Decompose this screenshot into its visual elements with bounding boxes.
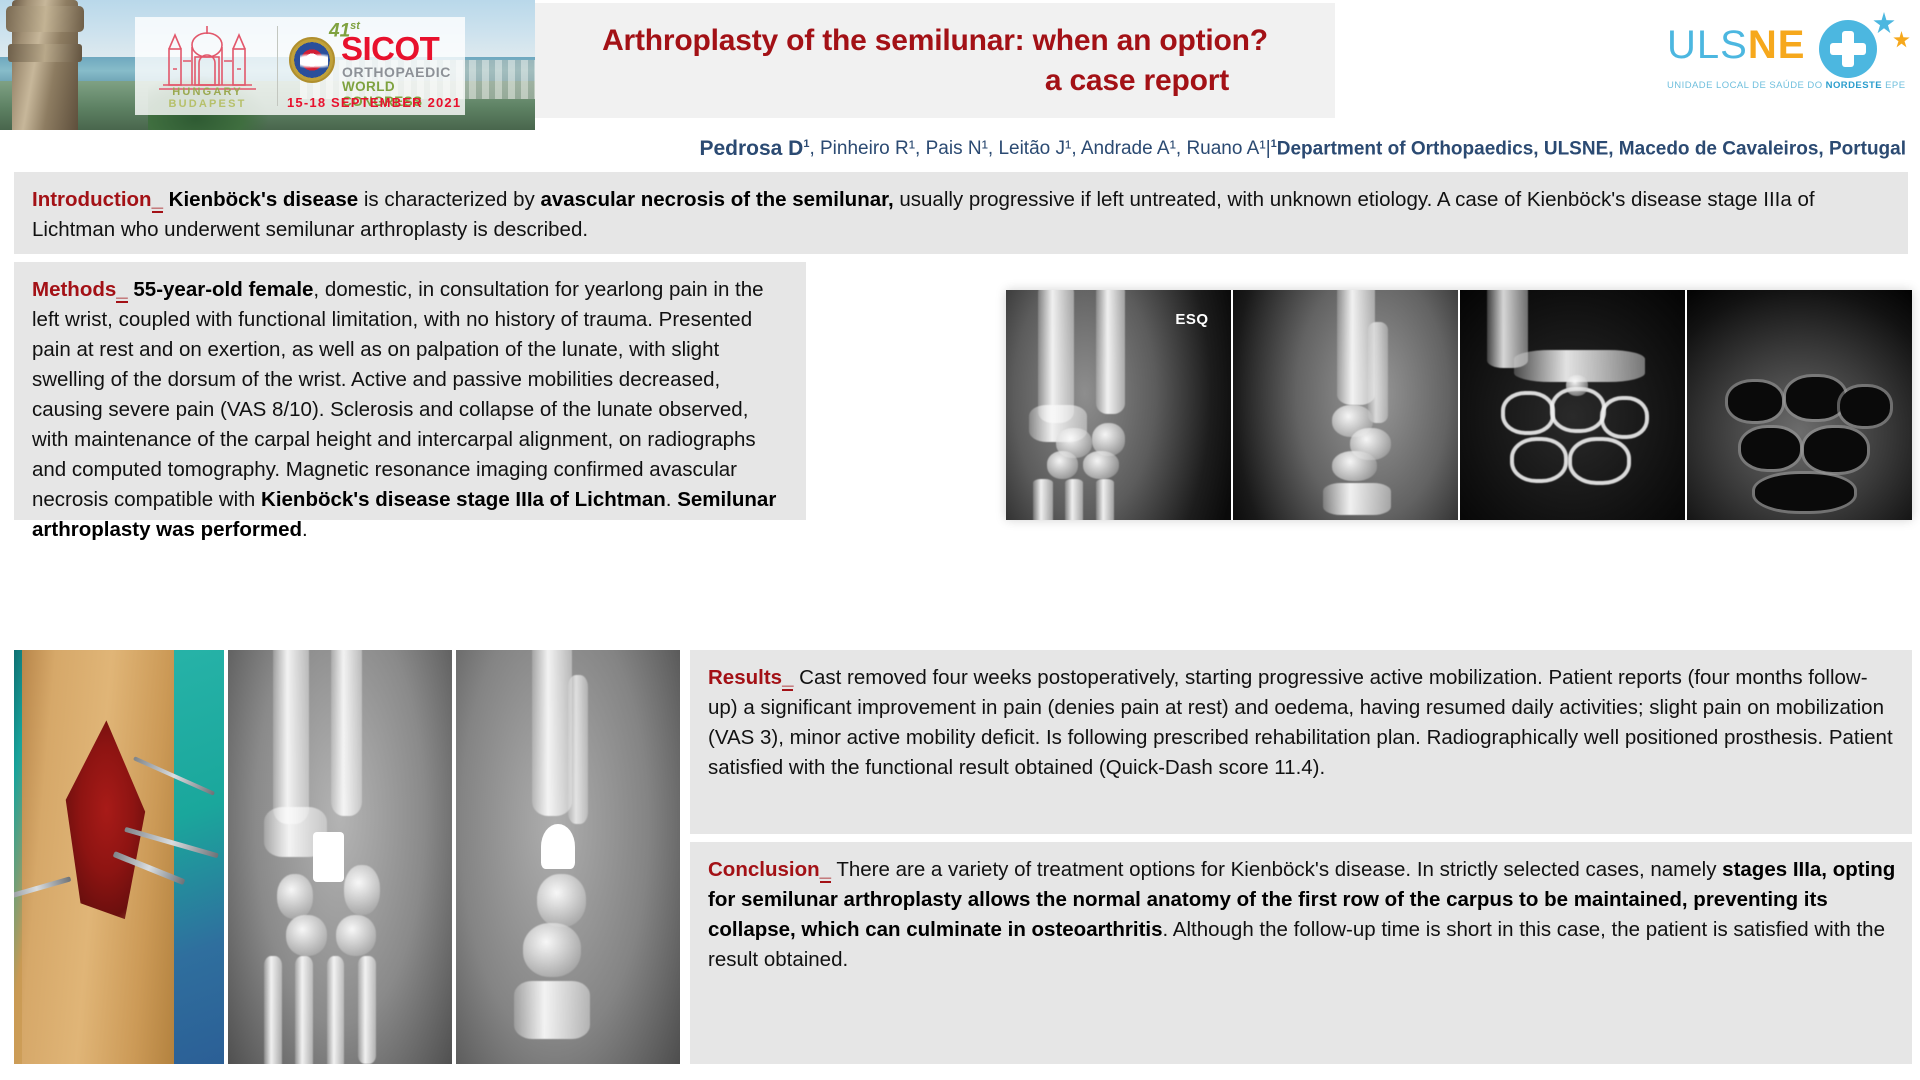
logo-divider bbox=[277, 26, 278, 106]
sicot-emblem-icon bbox=[289, 37, 335, 83]
introduction-text: Kienböck's disease is characterized by a… bbox=[32, 188, 1815, 241]
banner-stone-pillar bbox=[12, 0, 78, 130]
xray-lateral-preop bbox=[1233, 290, 1458, 520]
preoperative-imaging-strip: ESQ bbox=[1006, 290, 1912, 520]
sicot-dates: 15-18 SEPTEMBER 2021 bbox=[287, 95, 461, 110]
sicot-name: SICOT bbox=[341, 32, 439, 65]
budapest-basilica-icon: HUNGARY BUDAPEST bbox=[145, 23, 270, 109]
lead-author: Pedrosa D1 bbox=[699, 137, 809, 161]
lunate-prosthesis-lateral bbox=[541, 824, 575, 870]
poster-title-box: Arthroplasty of the semilunar: when an o… bbox=[535, 3, 1335, 118]
medical-cross-icon bbox=[1819, 20, 1877, 78]
ct-coronal-wrist bbox=[1460, 290, 1685, 520]
section-label-methods: Methods_ bbox=[32, 278, 128, 303]
xray-ap-postop bbox=[228, 650, 452, 1064]
poster-header: HUNGARY BUDAPEST 41st SICOT ORTHOPAEDIC … bbox=[0, 0, 1920, 130]
ulsne-subtitle: UNIDADE LOCAL DE SAÚDE DO NORDESTE EPE bbox=[1667, 80, 1905, 91]
section-results: Results_ Cast removed four weeks postope… bbox=[690, 650, 1912, 834]
xray-side-marker: ESQ bbox=[1175, 311, 1208, 328]
intraoperative-photo bbox=[14, 650, 224, 1064]
page-subtitle: a case report bbox=[1045, 61, 1335, 101]
affiliation: 1Department of Orthopaedics, ULSNE, Mace… bbox=[1271, 138, 1906, 160]
lunate-prosthesis bbox=[313, 832, 344, 882]
section-label-introduction: Introduction_ bbox=[32, 188, 163, 213]
xray-ap-preop: ESQ bbox=[1006, 290, 1231, 520]
sicot-wordmark: 41st SICOT ORTHOPAEDIC WORLD CONGRESS 15… bbox=[285, 21, 465, 111]
sicot-congress-logo: HUNGARY BUDAPEST 41st SICOT ORTHOPAEDIC … bbox=[135, 17, 465, 115]
conclusion-text: There are a variety of treatment options… bbox=[708, 858, 1895, 971]
section-methods: Methods_ 55-year-old female, domestic, i… bbox=[14, 262, 806, 520]
section-label-results: Results_ bbox=[708, 666, 793, 691]
congress-banner: HUNGARY BUDAPEST 41st SICOT ORTHOPAEDIC … bbox=[0, 0, 535, 130]
sicot-line2: ORTHOPAEDIC bbox=[342, 64, 451, 80]
star-icon-large bbox=[1873, 12, 1895, 34]
section-conclusion: Conclusion_ There are a variety of treat… bbox=[690, 842, 1912, 1064]
surgical-field bbox=[14, 650, 224, 1064]
poster-root: HUNGARY BUDAPEST 41st SICOT ORTHOPAEDIC … bbox=[0, 0, 1920, 1080]
authors-line: Pedrosa D1, Pinheiro R¹, Pais N¹, Leitão… bbox=[0, 128, 1920, 170]
section-introduction: Introduction_ Kienböck's disease is char… bbox=[14, 172, 1908, 254]
postoperative-radiograph-strip bbox=[228, 650, 680, 1064]
methods-text: 55-year-old female, domestic, in consult… bbox=[32, 278, 776, 541]
ulsne-wordmark: ULSNE bbox=[1667, 24, 1805, 66]
page-title: Arthroplasty of the semilunar: when an o… bbox=[602, 21, 1268, 61]
xray-lateral-postop bbox=[456, 650, 680, 1064]
mri-coronal-wrist bbox=[1687, 290, 1912, 520]
results-text: Cast removed four weeks postoperatively,… bbox=[708, 666, 1893, 779]
coauthors: , Pinheiro R¹, Pais N¹, Leitão J¹, Andra… bbox=[809, 138, 1265, 160]
institution-logo-box: ULSNE UNIDADE LOCAL DE SAÚDE DO NORDESTE… bbox=[1335, 0, 1920, 112]
basilica-caption: HUNGARY BUDAPEST bbox=[145, 86, 270, 110]
star-icon-small bbox=[1893, 31, 1910, 48]
section-label-conclusion: Conclusion_ bbox=[708, 858, 831, 883]
